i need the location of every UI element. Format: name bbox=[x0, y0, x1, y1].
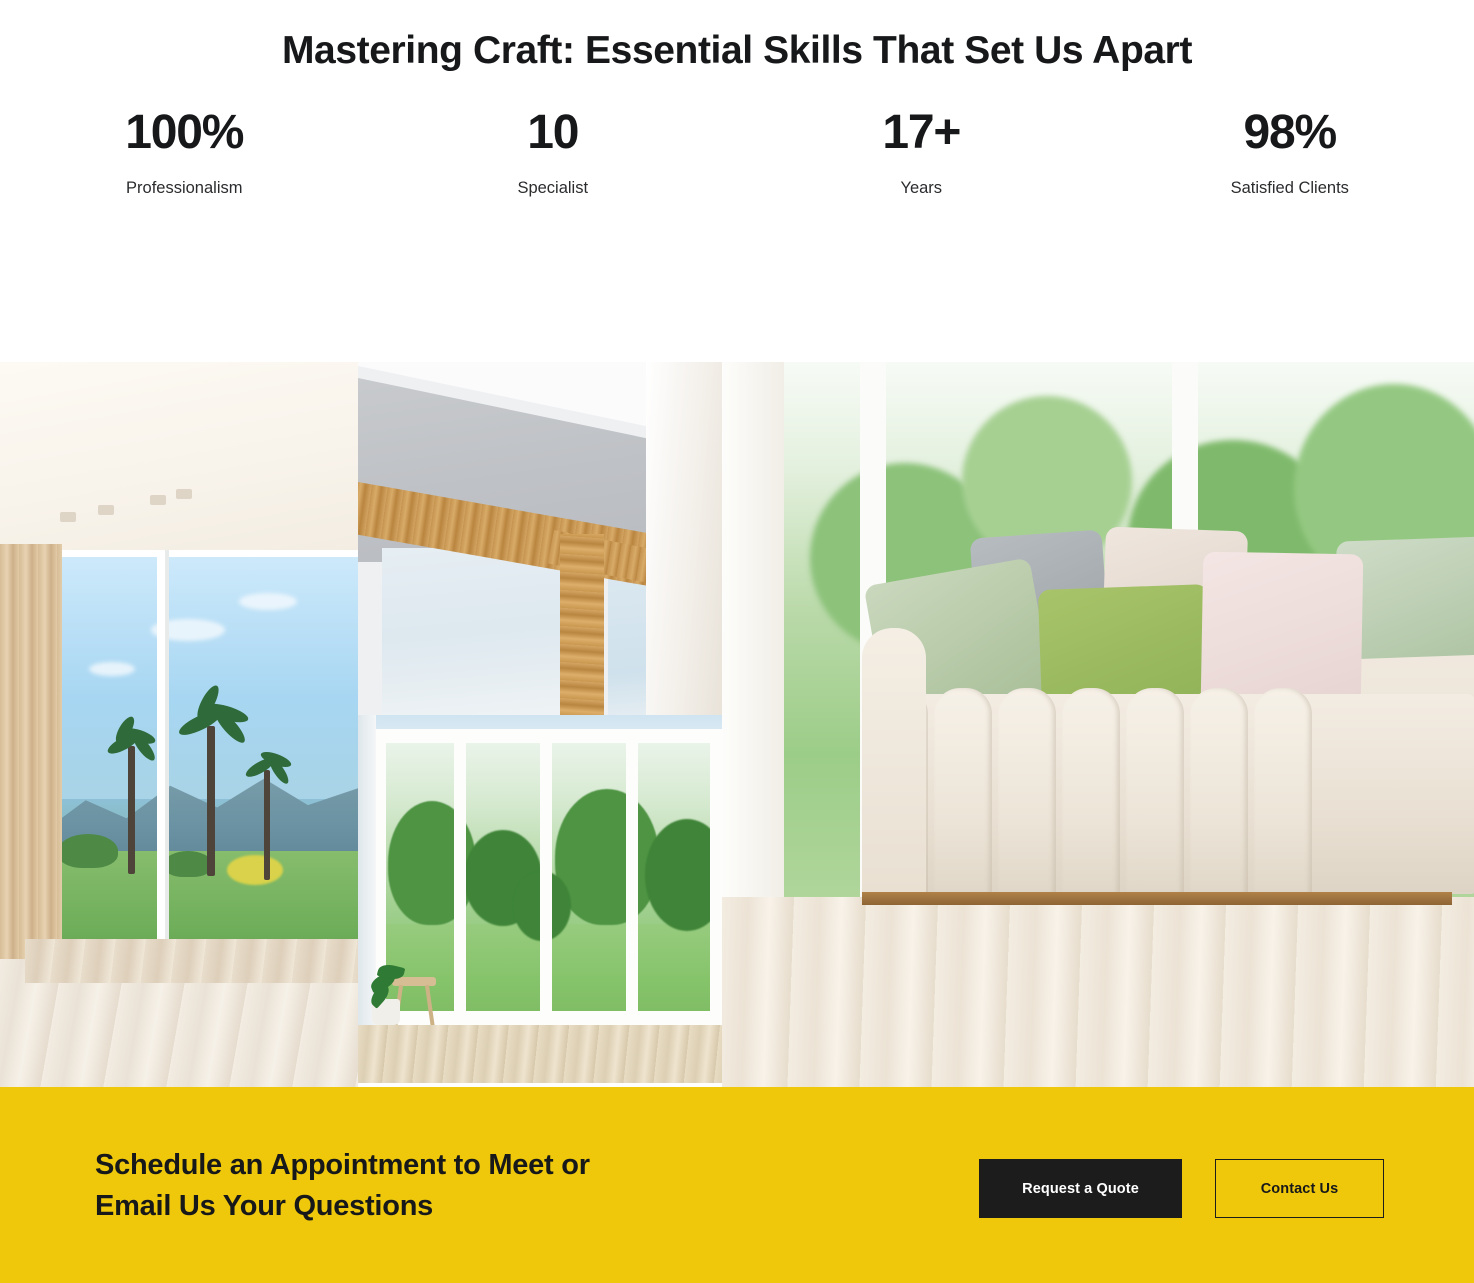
sofa-flute bbox=[1062, 688, 1120, 894]
stat-item-years: 17+ Years bbox=[737, 108, 1106, 199]
sofa-flute bbox=[998, 688, 1056, 894]
sofa-flute bbox=[934, 688, 992, 894]
ceiling-spot bbox=[150, 495, 166, 505]
door-mullion bbox=[626, 731, 638, 1023]
deck bbox=[25, 939, 358, 983]
flower-bush bbox=[227, 855, 283, 885]
sofa-flute bbox=[1254, 688, 1312, 894]
cloud bbox=[239, 593, 297, 610]
stats-row: 100% Professionalism 10 Specialist 17+ Y… bbox=[0, 108, 1474, 199]
stat-label: Years bbox=[900, 179, 942, 199]
cta-title: Schedule an Appointment to Meet or Email… bbox=[95, 1145, 855, 1227]
stat-item-specialist: 10 Specialist bbox=[369, 108, 738, 199]
door-mullion bbox=[540, 731, 552, 1023]
stats-header-section: Mastering Craft: Essential Skills That S… bbox=[0, 0, 1474, 345]
wooden-deck bbox=[358, 1025, 722, 1083]
stat-item-professionalism: 100% Professionalism bbox=[0, 108, 369, 199]
stat-label: Specialist bbox=[517, 179, 588, 199]
pillow-pink bbox=[1201, 552, 1364, 707]
window-mullion bbox=[165, 550, 169, 980]
stat-value: 10 bbox=[527, 108, 578, 158]
photo-glass-doors-park-view bbox=[358, 715, 722, 1083]
stat-label: Professionalism bbox=[126, 179, 242, 199]
hedge bbox=[58, 834, 118, 868]
floor bbox=[722, 897, 1474, 1087]
wood-beam-vertical bbox=[560, 534, 604, 725]
side-wall bbox=[646, 362, 722, 725]
window-frame bbox=[45, 550, 358, 557]
door-mullion bbox=[454, 731, 466, 1023]
cloud bbox=[89, 662, 135, 676]
stat-item-satisfied-clients: 98% Satisfied Clients bbox=[1106, 108, 1474, 199]
stat-label: Satisfied Clients bbox=[1231, 179, 1349, 199]
page-root: Mastering Craft: Essential Skills That S… bbox=[0, 0, 1474, 1283]
photo-sliding-door-mountain-view bbox=[0, 362, 358, 1087]
stat-value: 17+ bbox=[882, 108, 960, 158]
hedge bbox=[164, 851, 212, 877]
potted-plant bbox=[368, 965, 408, 1021]
stat-value: 100% bbox=[125, 108, 243, 158]
contact-us-button[interactable]: Contact Us bbox=[1215, 1159, 1384, 1218]
photo-wooden-frame-ceiling bbox=[358, 362, 722, 725]
ceiling-spot bbox=[98, 505, 114, 515]
window-view bbox=[45, 550, 358, 980]
cta-actions: Request a Quote Contact Us bbox=[979, 1159, 1384, 1218]
sofa-flute bbox=[1190, 688, 1248, 894]
sky bbox=[45, 550, 358, 799]
cta-title-line-2: Email Us Your Questions bbox=[95, 1190, 433, 1222]
image-gallery-section bbox=[0, 345, 1474, 1087]
glass-panel-left bbox=[382, 548, 562, 725]
sofa-plinth bbox=[862, 892, 1452, 905]
request-a-quote-button[interactable]: Request a Quote bbox=[979, 1159, 1182, 1218]
ceiling-spot bbox=[60, 512, 76, 522]
stat-value: 98% bbox=[1244, 108, 1336, 158]
sofa-arm bbox=[862, 628, 926, 894]
photo-sofa-with-pillows bbox=[722, 362, 1474, 1087]
sofa-flute bbox=[1126, 688, 1184, 894]
door-mullion bbox=[710, 731, 722, 1023]
ceiling-spot bbox=[176, 489, 192, 499]
cta-banner: Schedule an Appointment to Meet or Email… bbox=[0, 1087, 1474, 1283]
page-title: Mastering Craft: Essential Skills That S… bbox=[0, 28, 1474, 74]
cta-title-line-1: Schedule an Appointment to Meet or bbox=[95, 1149, 590, 1181]
